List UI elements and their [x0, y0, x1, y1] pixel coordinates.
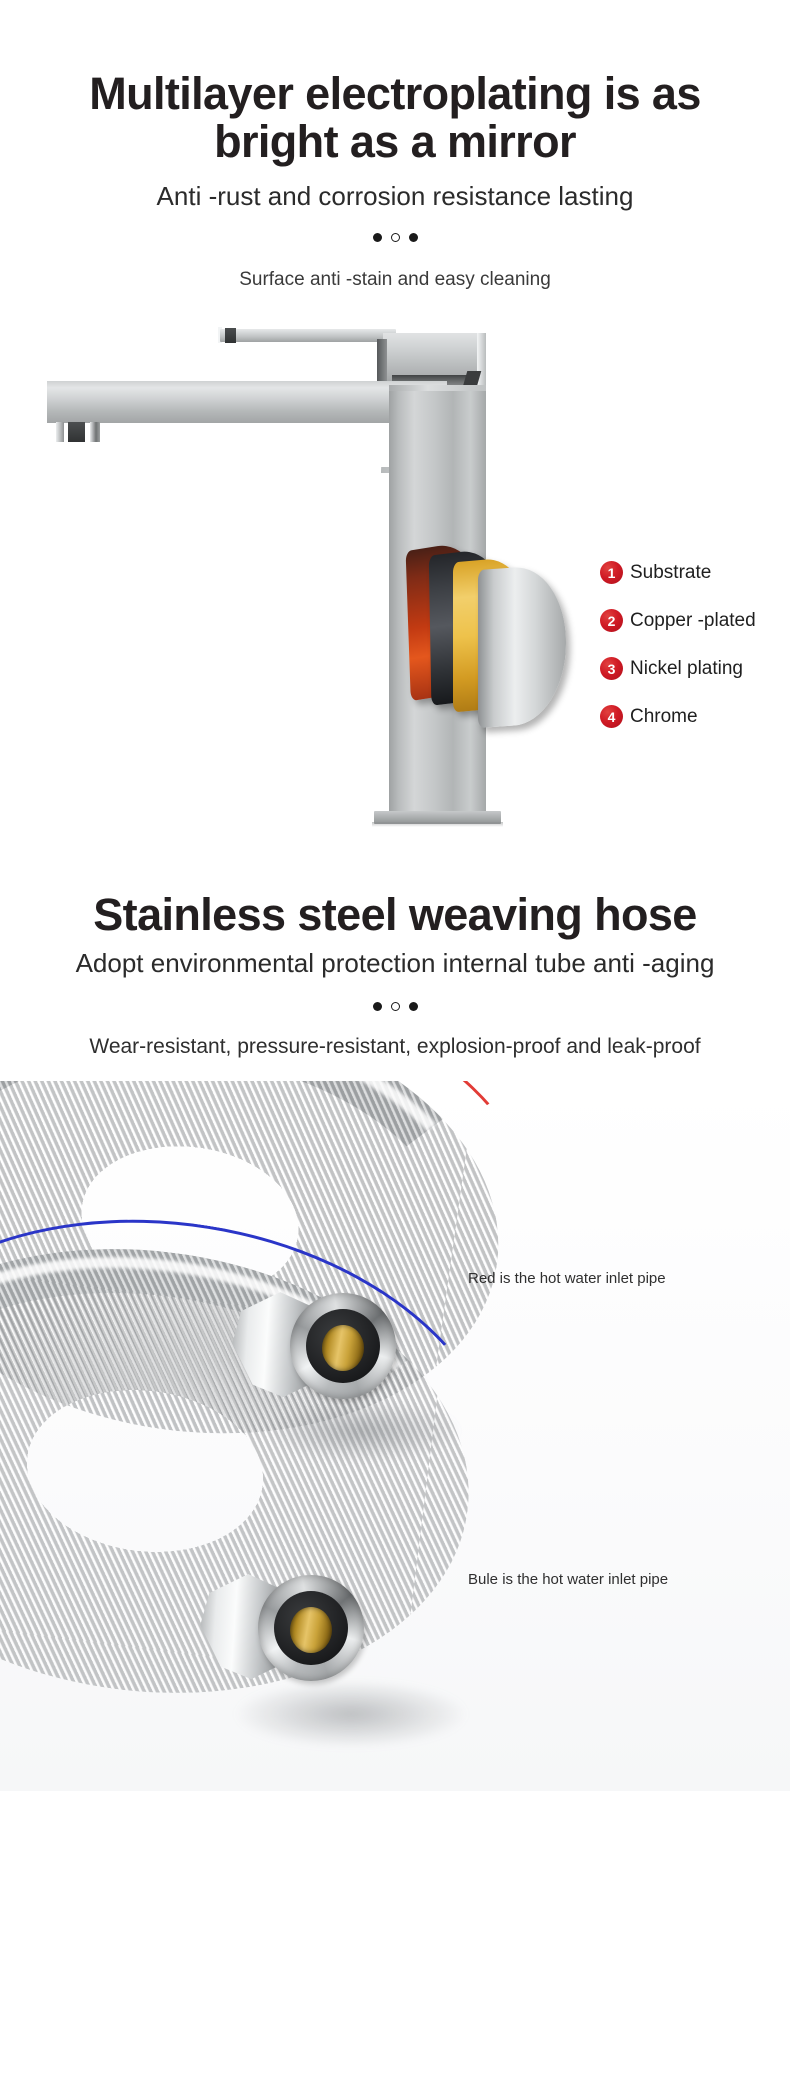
- faucet-illustration: 1 Substrate 2 Copper -plated 3 Nickel pl…: [0, 319, 790, 879]
- faucet-aerator-edge: [90, 422, 100, 442]
- legend-number-badge: 1: [600, 561, 623, 584]
- product-detail-page: Multilayer electroplating is as bright a…: [0, 0, 790, 2076]
- dot-filled-icon: [373, 1002, 382, 1011]
- legend-number-badge: 2: [600, 609, 623, 632]
- faucet-hub-left-edge: [377, 339, 387, 385]
- dot-hollow-icon: [391, 1002, 400, 1011]
- faucet-base-shadow: [372, 822, 503, 827]
- hose-section-header: Stainless steel weaving hose Adopt envir…: [0, 879, 790, 1060]
- legend-label: Copper -plated: [630, 610, 756, 632]
- hose-subhead: Adopt environmental protection internal …: [0, 947, 790, 980]
- faucet-aerator-outer: [56, 422, 64, 442]
- dot-filled-icon: [409, 1002, 418, 1011]
- hose-upper-fitting-shadow: [268, 1401, 458, 1461]
- divider-dots-plating: [0, 229, 790, 247]
- caption-cold-water-pipe: Bule is the hot water inlet pipe: [468, 1571, 668, 1588]
- legend-label: Substrate: [630, 562, 711, 584]
- dot-hollow-icon: [391, 233, 400, 242]
- plating-layers-group: [400, 541, 600, 721]
- plating-layer-chrome: [478, 564, 566, 728]
- legend-item-chrome: 4 Chrome: [600, 693, 790, 741]
- legend-label: Nickel plating: [630, 658, 743, 680]
- legend-label: Chrome: [630, 706, 698, 728]
- faucet-lever-handle: [220, 329, 396, 342]
- hose-headline: Stainless steel weaving hose: [0, 891, 790, 939]
- plating-section-header: Multilayer electroplating is as bright a…: [0, 0, 790, 291]
- faucet-spout-arm: [47, 381, 447, 423]
- plating-tagline: Surface anti -stain and easy cleaning: [0, 269, 790, 291]
- legend-number-badge: 3: [600, 657, 623, 680]
- faucet-aerator-core: [68, 422, 85, 442]
- hose-tagline: Wear-resistant, pressure-resistant, expl…: [0, 1035, 790, 1059]
- legend-number-badge: 4: [600, 705, 623, 728]
- legend-item-nickel-plating: 3 Nickel plating: [600, 645, 790, 693]
- plating-legend-list: 1 Substrate 2 Copper -plated 3 Nickel pl…: [600, 549, 790, 741]
- plating-subhead: Anti -rust and corrosion resistance last…: [0, 180, 790, 213]
- legend-item-substrate: 1 Substrate: [600, 549, 790, 597]
- legend-item-copper-plated: 2 Copper -plated: [600, 597, 790, 645]
- hose-lower-fitting-shadow: [236, 1681, 466, 1747]
- caption-hot-water-pipe: Red is the hot water inlet pipe: [468, 1270, 666, 1287]
- divider-dots-hose: [0, 997, 790, 1015]
- hose-illustration: Red is the hot water inlet pipe Bule is …: [0, 1081, 790, 1791]
- plating-headline: Multilayer electroplating is as bright a…: [0, 70, 790, 166]
- dot-filled-icon: [409, 233, 418, 242]
- dot-filled-icon: [373, 233, 382, 242]
- faucet-lever-end-cap: [225, 328, 236, 343]
